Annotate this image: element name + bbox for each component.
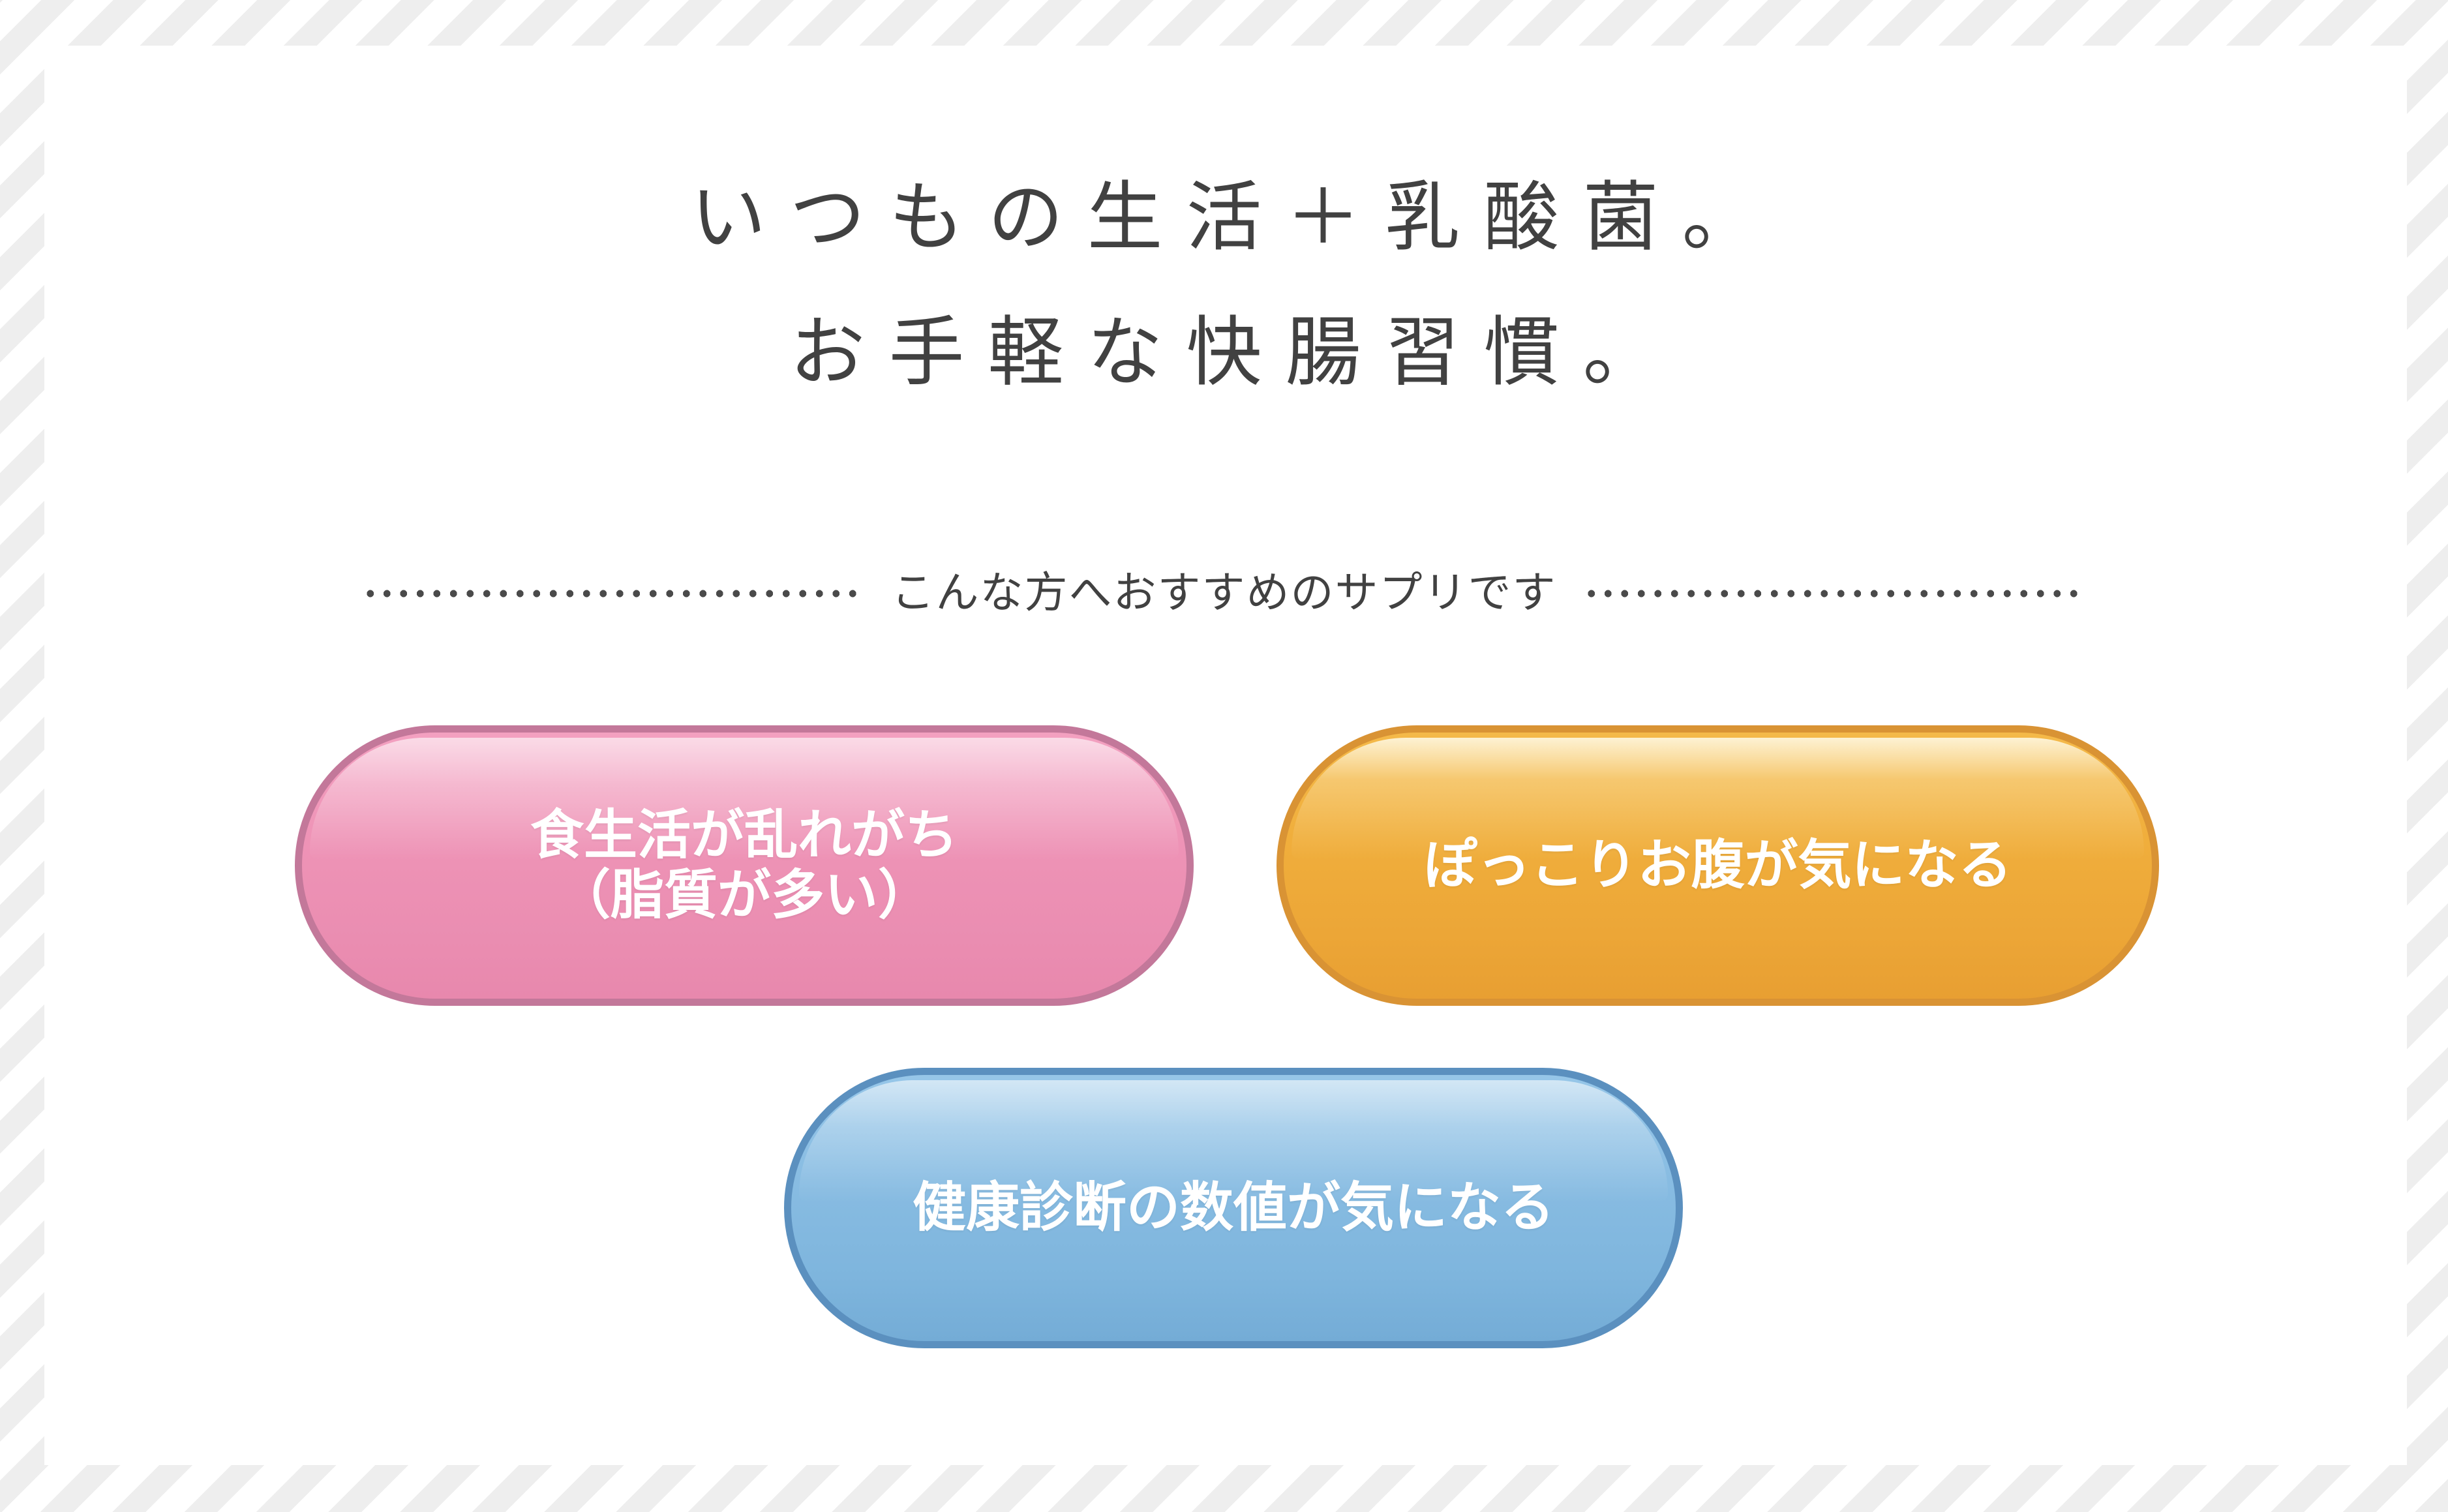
benefit-pill-checkup-label: 健康診断の数値が気になる bbox=[913, 1178, 1554, 1238]
subtitle-row: こんな方へおすすめのサプリです bbox=[0, 558, 2448, 629]
subtitle-text: こんな方へおすすめのサプリです bbox=[866, 572, 1583, 615]
dotted-rule-right-icon bbox=[1583, 587, 2087, 600]
headline-line-2: お手軽な快腸習慣。 bbox=[0, 316, 2448, 391]
dotted-rule-left-icon bbox=[362, 587, 866, 600]
benefit-pill-diet-label: 食生活が乱れがち （脂質が多い） bbox=[530, 806, 958, 926]
benefit-pill-belly[interactable]: ぽっこりお腹が気になる bbox=[1277, 725, 2159, 1006]
promo-banner: いつもの生活＋乳酸菌。 お手軽な快腸習慣。 こんな方へおすすめのサプリです 食生… bbox=[0, 0, 2448, 1512]
headline-line-1: いつもの生活＋乳酸菌。 bbox=[0, 181, 2448, 256]
benefit-pill-diet[interactable]: 食生活が乱れがち （脂質が多い） bbox=[295, 725, 1194, 1006]
benefit-pill-checkup[interactable]: 健康診断の数値が気になる bbox=[784, 1068, 1683, 1348]
benefit-pill-belly-label: ぽっこりお腹が気になる bbox=[1423, 836, 2012, 896]
banner-content: いつもの生活＋乳酸菌。 お手軽な快腸習慣。 こんな方へおすすめのサプリです 食生… bbox=[0, 0, 2448, 1512]
